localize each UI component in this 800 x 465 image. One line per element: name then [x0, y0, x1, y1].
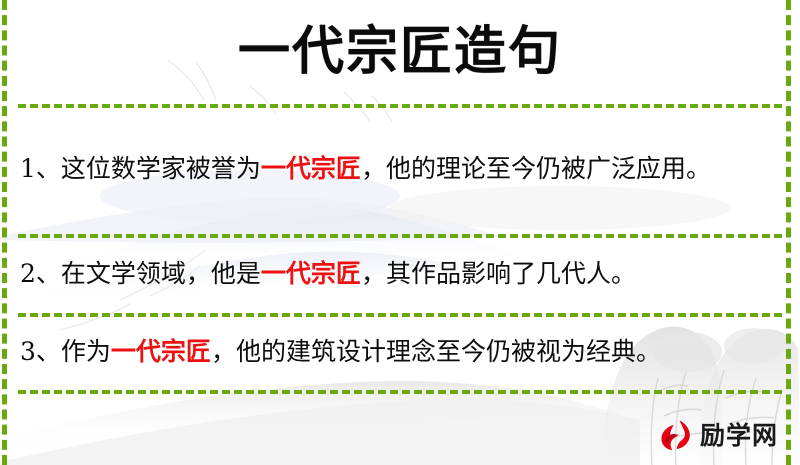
divider-rule-bottom — [18, 390, 782, 394]
sentence-segment-1b: ，他的理论至今仍被广泛应用。 — [361, 154, 711, 183]
sentence-segment-3a: 作为 — [61, 337, 111, 366]
sentence-item-3: 3、作为一代宗匠，他的建筑设计理念至今仍被视为经典。 — [0, 313, 800, 390]
page-title: 一代宗匠造句 — [238, 26, 562, 78]
keyword-highlight-3: 一代宗匠 — [111, 337, 211, 366]
brand-name: 励学网 — [700, 423, 778, 448]
sentence-segment-2b: ，其作品影响了几代人。 — [361, 259, 636, 288]
divider-rule-top — [18, 104, 782, 108]
sentence-segment-2a: 在文学领域，他是 — [61, 259, 261, 288]
sentence-index-2: 2、 — [20, 259, 61, 288]
keyword-highlight-1: 一代宗匠 — [261, 154, 361, 183]
sentence-text-1: 1、这位数学家被誉为一代宗匠，他的理论至今仍被广泛应用。 — [20, 148, 772, 190]
sentence-segment-1a: 这位数学家被誉为 — [61, 154, 261, 183]
sentence-list: 1、这位数学家被誉为一代宗匠，他的理论至今仍被广泛应用。 2、在文学领域，他是一… — [0, 104, 800, 390]
divider-rule-1 — [18, 234, 782, 238]
sentence-index-3: 3、 — [20, 337, 61, 366]
sentence-text-3: 3、作为一代宗匠，他的建筑设计理念至今仍被视为经典。 — [20, 331, 772, 373]
sentence-index-1: 1、 — [20, 154, 61, 183]
sentence-item-1: 1、这位数学家被誉为一代宗匠，他的理论至今仍被广泛应用。 — [0, 104, 800, 234]
brand-watermark: 励学网 — [657, 417, 778, 453]
keyword-highlight-2: 一代宗匠 — [261, 259, 361, 288]
sentence-segment-3b: ，他的建筑设计理念至今仍被视为经典。 — [211, 337, 661, 366]
divider-rule-2 — [18, 313, 782, 317]
left-dashed-border — [2, 0, 7, 465]
red-swirl-flame-icon — [657, 417, 693, 453]
right-dashed-border — [786, 0, 791, 465]
title-band: 一代宗匠造句 — [0, 0, 800, 104]
sentence-card-page: 一代宗匠造句 1、这位数学家被誉为一代宗匠，他的理论至今仍被广泛应用。 2、在文… — [0, 0, 800, 465]
sentence-item-2: 2、在文学领域，他是一代宗匠，其作品影响了几代人。 — [0, 234, 800, 313]
sentence-text-2: 2、在文学领域，他是一代宗匠，其作品影响了几代人。 — [20, 253, 772, 295]
